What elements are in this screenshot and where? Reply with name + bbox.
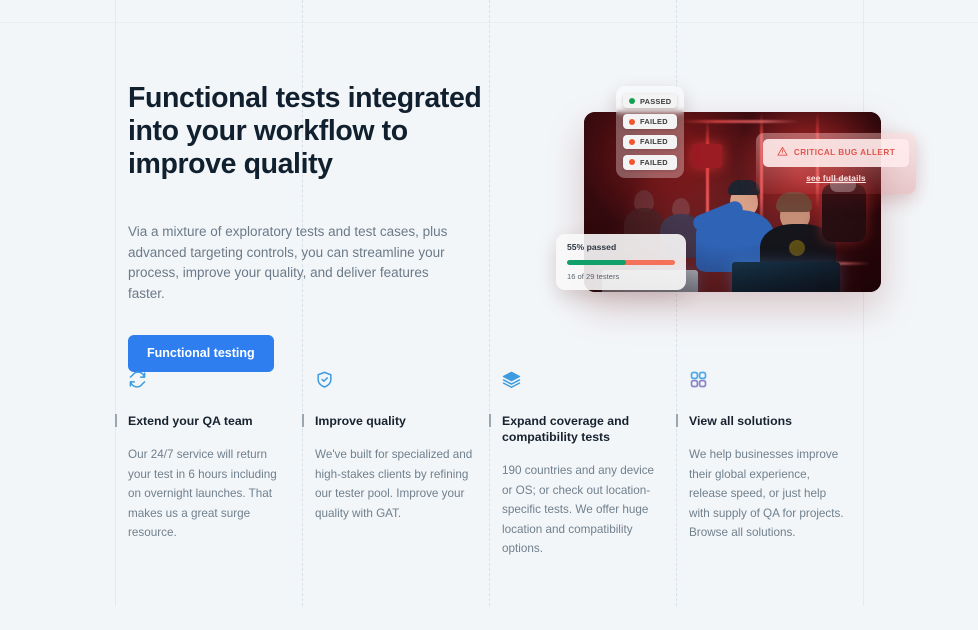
status-badge[interactable]: FAILED: [623, 114, 677, 128]
feature-body: 190 countries and any device or OS; or c…: [502, 461, 660, 559]
pass-rate-card: 55% passed 16 of 29 testers: [556, 234, 686, 290]
top-rule: [0, 22, 978, 23]
pass-rate-progressbar: [567, 260, 675, 265]
feature-expand-coverage[interactable]: Expand coverage and compatibility tests …: [489, 368, 676, 559]
status-badge[interactable]: PASSED: [623, 94, 677, 108]
status-dot-icon: [629, 139, 635, 145]
see-full-details-link[interactable]: see full details: [806, 174, 866, 183]
layers-stack-icon: [502, 368, 660, 390]
feature-improve-quality[interactable]: Improve quality We've built for speciali…: [302, 368, 489, 559]
status-badge[interactable]: FAILED: [623, 135, 677, 149]
feature-body: We help businesses improve their global …: [689, 445, 847, 543]
shield-check-icon: [315, 368, 473, 390]
status-dot-icon: [629, 119, 635, 125]
grid-squares-icon: [689, 368, 847, 390]
feature-title: View all solutions: [689, 413, 847, 429]
feature-title: Improve quality: [315, 413, 473, 429]
pass-rate-progress-fill: [567, 260, 626, 265]
status-label: PASSED: [640, 98, 671, 105]
media-showcase: PASSED FAILED FAILED FAILED CRITICAL BUG: [556, 86, 916, 311]
hero-subtitle: Via a mixture of exploratory tests and t…: [128, 222, 458, 304]
status-badge[interactable]: FAILED: [623, 155, 677, 169]
feature-title: Extend your QA team: [128, 413, 286, 429]
hero-section: Functional tests integrated into your wo…: [128, 82, 488, 372]
feature-title: Expand coverage and compatibility tests: [502, 413, 660, 445]
feature-tick-mark: [676, 414, 678, 427]
feature-body: Our 24/7 service will return your test i…: [128, 445, 286, 543]
test-status-list: PASSED FAILED FAILED FAILED: [616, 86, 684, 178]
feature-tick-mark: [302, 414, 304, 427]
refresh-sync-icon: [128, 368, 286, 390]
feature-extend-qa-team[interactable]: Extend your QA team Our 24/7 service wil…: [115, 368, 302, 559]
status-label: FAILED: [640, 118, 668, 125]
feature-tick-mark: [115, 414, 117, 427]
feature-tick-mark: [489, 414, 491, 427]
status-dot-icon: [629, 98, 635, 104]
status-label: FAILED: [640, 138, 668, 145]
critical-bug-alert-card[interactable]: CRITICAL BUG ALLERT see full details: [756, 133, 916, 194]
page-title: Functional tests integrated into your wo…: [128, 82, 488, 181]
status-dot-icon: [629, 159, 635, 165]
feature-body: We've built for specialized and high-sta…: [315, 445, 473, 523]
pass-rate-title: 55% passed: [567, 243, 675, 252]
warning-triangle-icon: [777, 144, 788, 162]
pass-rate-caption: 16 of 29 testers: [567, 273, 675, 281]
feature-columns: Extend your QA team Our 24/7 service wil…: [115, 368, 955, 559]
feature-view-all-solutions[interactable]: View all solutions We help businesses im…: [676, 368, 863, 559]
functional-testing-button[interactable]: Functional testing: [128, 335, 274, 372]
alert-message: CRITICAL BUG ALLERT: [794, 149, 895, 157]
alert-banner: CRITICAL BUG ALLERT: [763, 139, 909, 167]
status-label: FAILED: [640, 159, 668, 166]
